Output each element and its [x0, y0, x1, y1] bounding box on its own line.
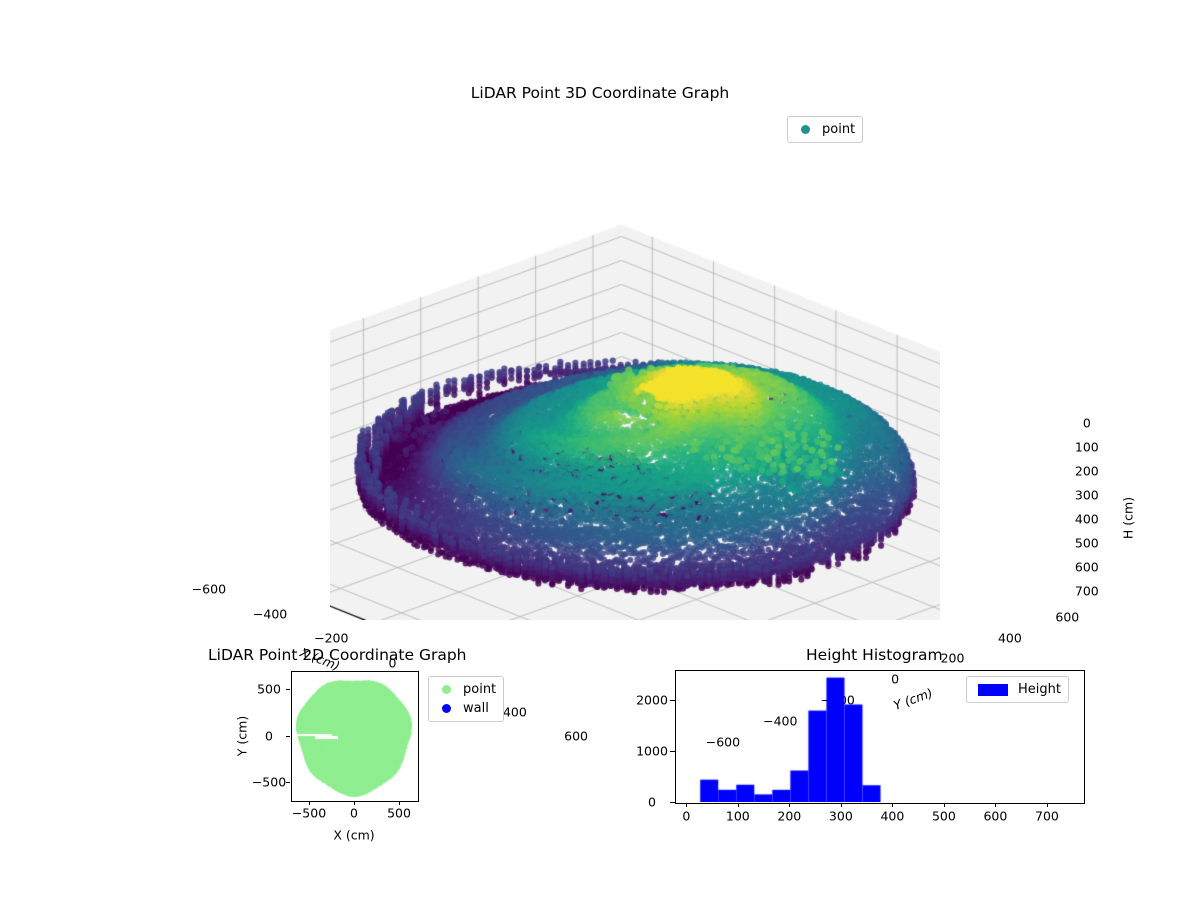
- histogram-xtick-2: 200: [777, 809, 801, 824]
- plot3d-xtick-0: −600: [192, 582, 226, 597]
- plot2d-xtick-1: 0: [350, 806, 358, 821]
- histogram-xtickmark-2: [789, 803, 790, 807]
- plot3d-ytick-5: 400: [998, 630, 1022, 645]
- plot2d-ytickmark-1: [286, 736, 290, 737]
- plot2d-xlabel: X (cm): [333, 828, 374, 843]
- plot3d-ztick-2: 200: [1075, 463, 1099, 478]
- histogram-xtick-6: 600: [983, 809, 1007, 824]
- plot2d-xtick-2: 500: [387, 806, 411, 821]
- plot3d-title: LiDAR Point 3D Coordinate Graph: [0, 84, 1200, 102]
- histogram-legend[interactable]: Height: [966, 676, 1069, 703]
- plot3d-ytick-6: 600: [1055, 609, 1079, 624]
- plot3d-ztick-3: 300: [1075, 487, 1099, 502]
- plot3d-ztick-6: 600: [1075, 559, 1099, 574]
- matplotlib-figure: LiDAR Point 3D Coordinate Graph point −6…: [0, 0, 1200, 900]
- legend-item-height: Height: [974, 680, 1061, 699]
- plot2d-ytick-2: 500: [257, 682, 281, 697]
- plot3d-ztick-4: 400: [1075, 511, 1099, 526]
- plot3d-canvas[interactable]: [330, 140, 940, 620]
- histogram-xtick-5: 500: [932, 809, 956, 824]
- plot3d-ztick-0: 0: [1083, 415, 1091, 430]
- plot2d-xtickmark-2: [399, 801, 400, 805]
- histogram-xtick-0: 0: [682, 809, 690, 824]
- plot3d-zlabel: H (cm): [1121, 497, 1136, 539]
- plot3d-ztick-7: 700: [1075, 583, 1099, 598]
- legend-label-wall: wall: [463, 699, 489, 718]
- plot2d-ytick-0: −500: [252, 774, 286, 789]
- histogram-xtick-7: 700: [1035, 809, 1059, 824]
- plot2d-legend[interactable]: point wall: [428, 676, 504, 722]
- plot3d-ytick-4: 200: [941, 651, 965, 666]
- plot2d-ylabel: Y (cm): [235, 715, 250, 755]
- plot2d-xtick-0: −500: [292, 806, 326, 821]
- legend-label-point: point: [463, 680, 496, 699]
- plot3d-xtick-5: 400: [503, 704, 527, 719]
- histogram-xtickmark-0: [686, 803, 687, 807]
- histogram-ytick-2: 2000: [636, 693, 668, 708]
- wall-marker-icon: [442, 704, 451, 713]
- histogram-xtickmark-6: [995, 803, 996, 807]
- plot3d-xtick-1: −400: [253, 606, 287, 621]
- plot3d-ztick-1: 100: [1075, 439, 1099, 454]
- histogram-xtickmark-5: [944, 803, 945, 807]
- histogram-xtick-3: 300: [829, 809, 853, 824]
- plot2d-ytickmark-0: [286, 782, 290, 783]
- plot2d-xtickmark-1: [354, 801, 355, 805]
- legend-label-point: point: [822, 120, 855, 139]
- legend-item-point: point: [436, 680, 496, 699]
- histogram-ytickmark-1: [670, 751, 675, 752]
- histogram-xtickmark-7: [1047, 803, 1048, 807]
- legend-item-wall: wall: [436, 699, 496, 718]
- legend-label-height: Height: [1018, 680, 1061, 699]
- histogram-ytick-0: 0: [648, 795, 656, 810]
- plot2d-ytickmark-2: [286, 689, 290, 690]
- histogram-xtickmark-1: [738, 803, 739, 807]
- plot3d-xtick-6: 600: [564, 729, 588, 744]
- plot2d-ytick-1: 0: [265, 728, 273, 743]
- histogram-xtickmark-4: [892, 803, 893, 807]
- point-marker-icon: [442, 685, 451, 694]
- histogram-xtick-4: 400: [880, 809, 904, 824]
- plot3d-ztick-5: 500: [1075, 535, 1099, 550]
- height-patch-icon: [978, 684, 1008, 696]
- point-marker-icon: [801, 125, 810, 134]
- histogram-xtickmark-3: [841, 803, 842, 807]
- plot2d-xtickmark-0: [309, 801, 310, 805]
- plot2d-canvas[interactable]: [291, 671, 417, 800]
- plot3d-xtick-2: −200: [314, 631, 348, 646]
- histogram-ytick-1: 1000: [636, 744, 668, 759]
- histogram-title: Height Histogram: [806, 646, 943, 664]
- histogram-xtick-1: 100: [726, 809, 750, 824]
- histogram-ytickmark-2: [670, 700, 675, 701]
- plot2d-title: LiDAR Point 2D Coordinate Graph: [208, 646, 466, 664]
- plot3d-legend[interactable]: point: [787, 116, 863, 143]
- legend-item-point: point: [795, 120, 855, 139]
- histogram-ytickmark-0: [670, 802, 675, 803]
